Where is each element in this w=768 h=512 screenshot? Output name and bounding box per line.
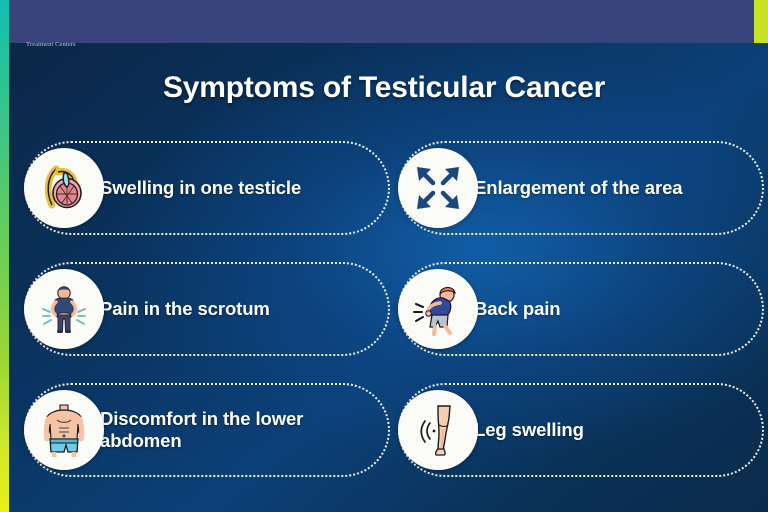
swollen-leg-icon — [398, 390, 478, 470]
right-accent-strip — [754, 0, 768, 43]
brand-label: Treatment Centers — [26, 41, 76, 48]
symptom-label: Back pain — [474, 298, 561, 320]
symptom-label: Swelling in one testicle — [100, 177, 301, 199]
symptom-card-discomfort-in-the-lower-abdomen[interactable]: Discomfort in the lower abdomen — [24, 383, 390, 477]
testicle-anatomy-icon — [24, 148, 104, 228]
symptom-label: Leg swelling — [474, 419, 584, 441]
symptoms-grid: Swelling in one testicle — [0, 141, 768, 477]
man-holding-groin-icon — [24, 269, 104, 349]
left-accent-strip — [0, 0, 9, 512]
expand-arrows-icon — [398, 148, 478, 228]
symptom-card-enlargement-of-the-area[interactable]: Enlargement of the area — [398, 141, 764, 235]
symptom-card-leg-swelling[interactable]: Leg swelling — [398, 383, 764, 477]
torso-underwear-icon — [24, 390, 104, 470]
symptoms-infographic: Treatment Centers Symptoms of Testicular… — [0, 0, 768, 512]
header-band — [0, 0, 768, 43]
page-title: Symptoms of Testicular Cancer — [0, 71, 768, 105]
symptom-card-back-pain[interactable]: Back pain — [398, 262, 764, 356]
symptom-label: Pain in the scrotum — [100, 298, 270, 320]
symptom-label: Enlargement of the area — [474, 177, 682, 199]
symptom-card-pain-in-the-scrotum[interactable]: Pain in the scrotum — [24, 262, 390, 356]
symptom-label: Discomfort in the lower abdomen — [100, 408, 372, 451]
symptom-card-swelling-in-one-testicle[interactable]: Swelling in one testicle — [24, 141, 390, 235]
man-holding-back-icon — [398, 269, 478, 349]
